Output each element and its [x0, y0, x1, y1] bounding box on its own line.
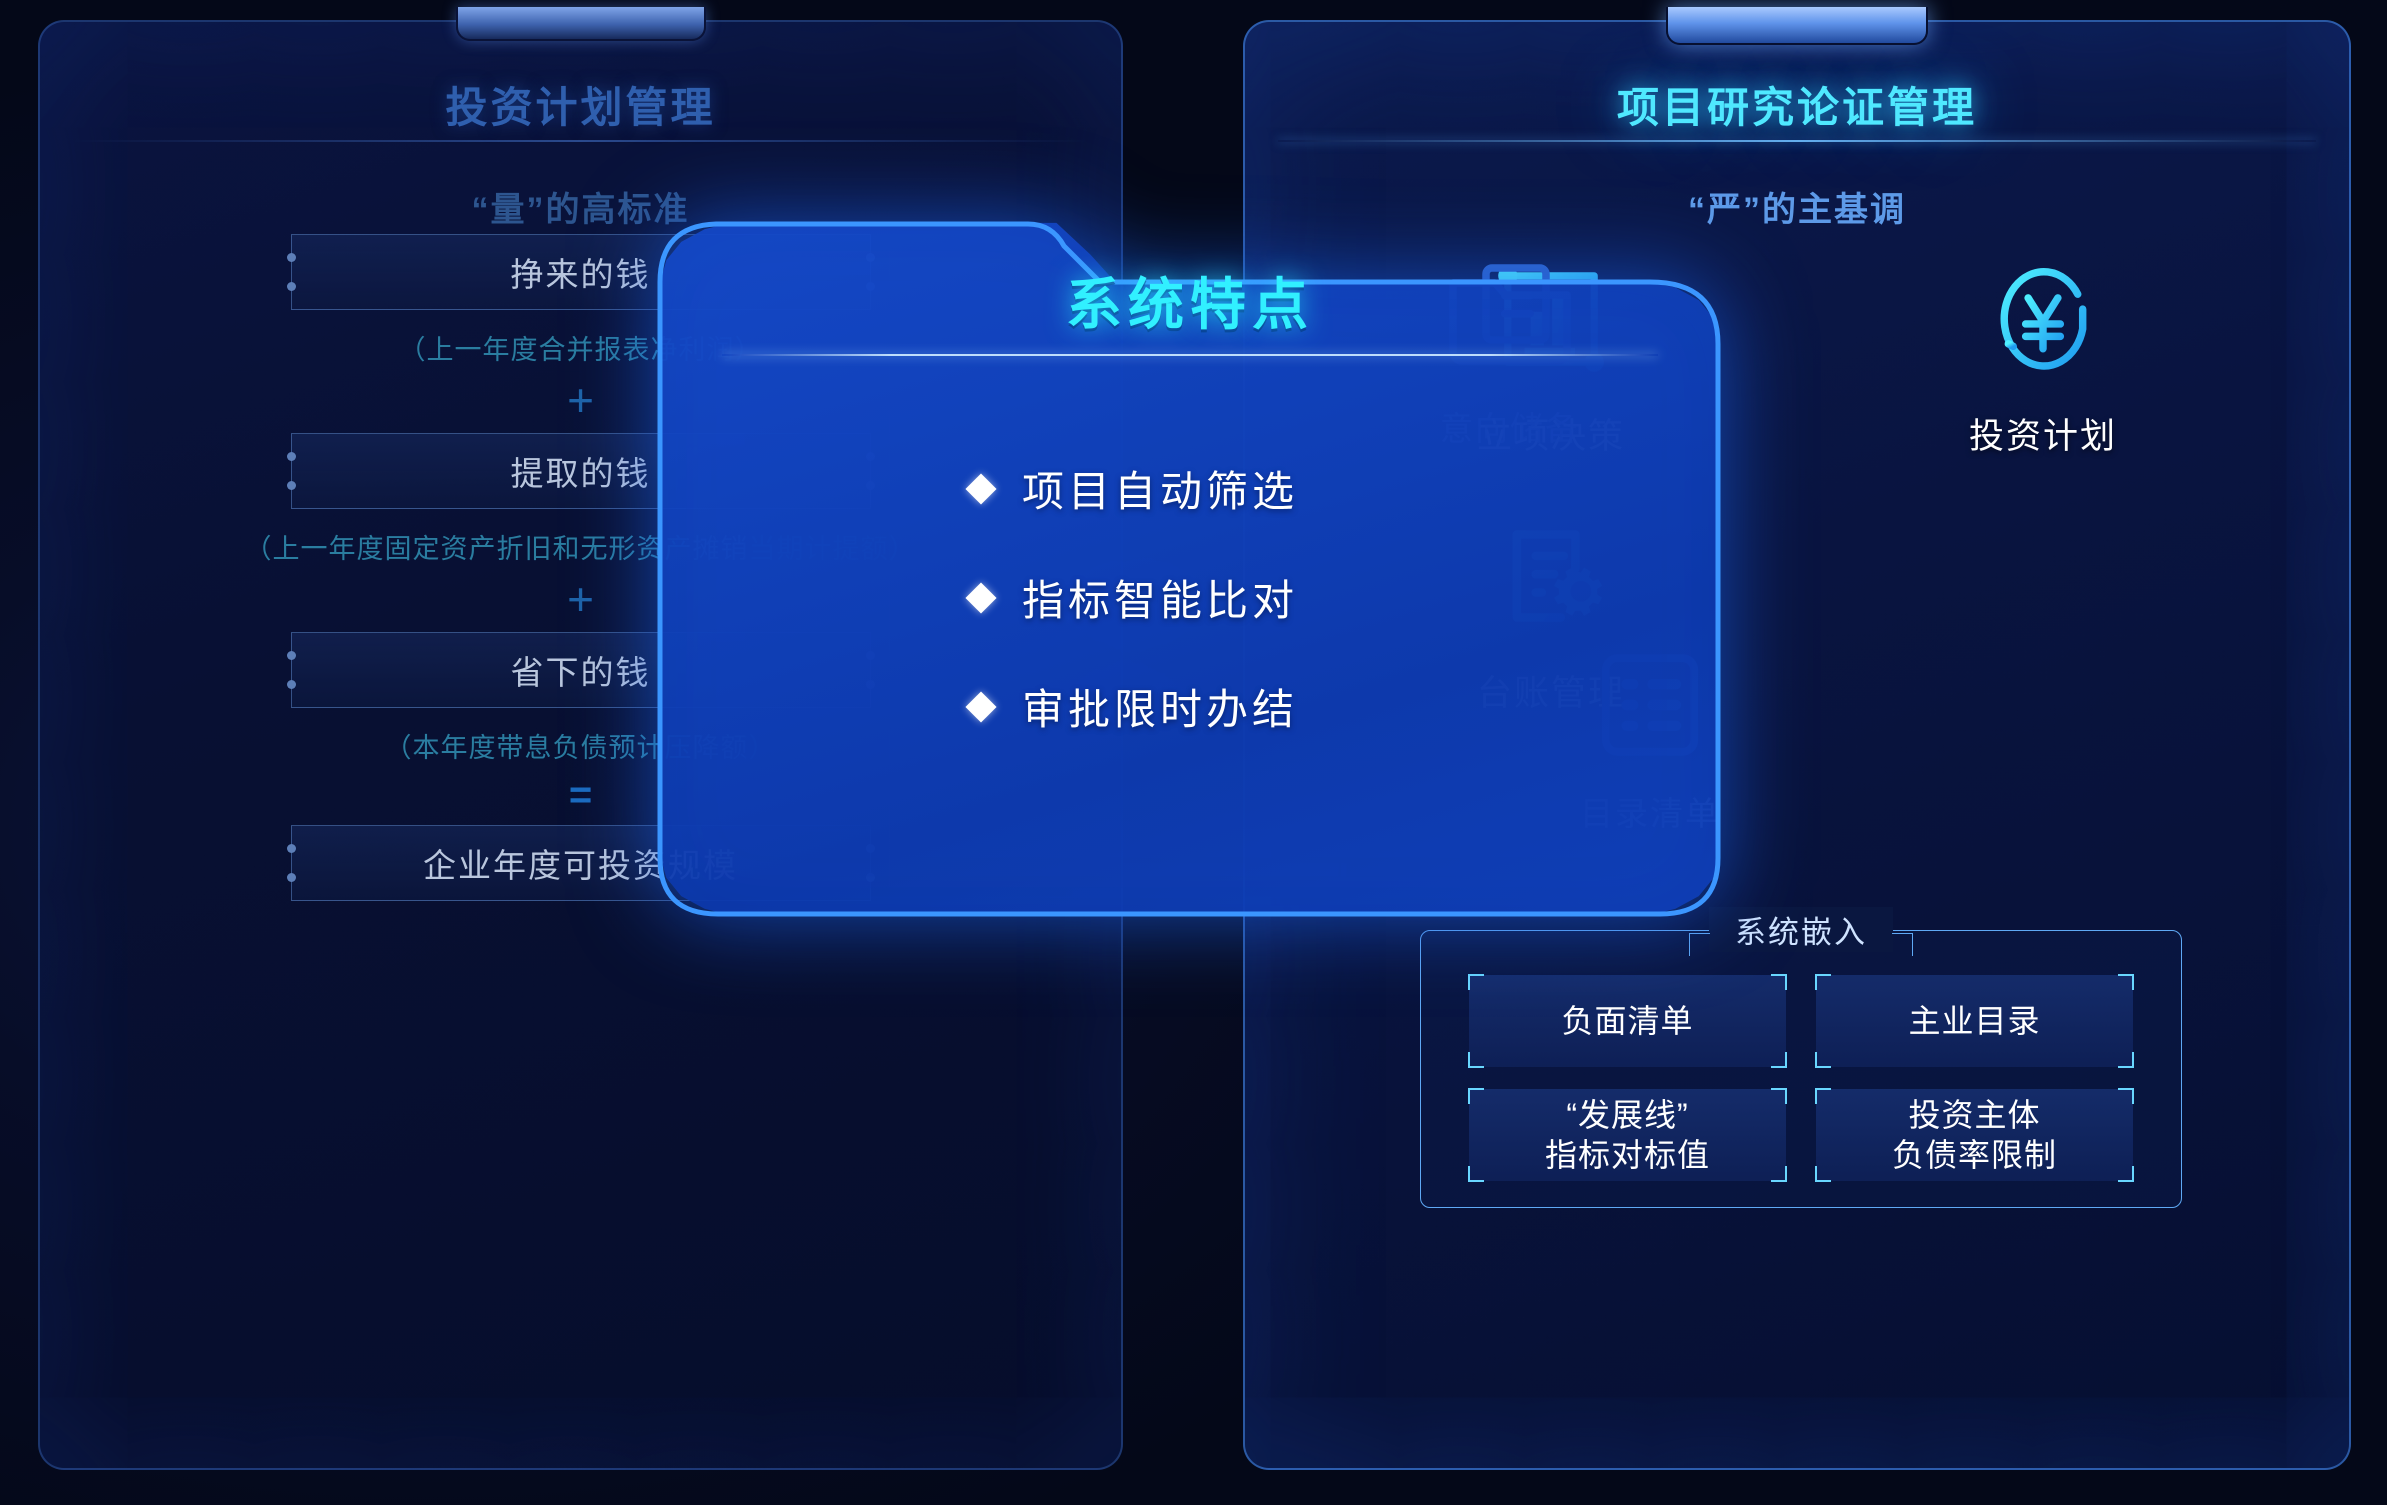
system-embed-grid: 负面清单 主业目录 “发展线” 指标对标值 投资主体 — [1469, 975, 2133, 1181]
embed-cell-line: 指标对标值 — [1545, 1135, 1710, 1175]
embed-cell-line: “发展线” — [1545, 1095, 1710, 1135]
modal-list-item[interactable]: 审批限时办结 — [970, 676, 1490, 737]
formula-box-label: 挣来的钱 — [511, 248, 651, 296]
panel-right-tab-notch — [1666, 7, 1928, 45]
modal-feature-list: 项目自动筛选 指标智能比对 审批限时办结 — [970, 458, 1490, 785]
modal-list-label: 审批限时办结 — [1022, 676, 1298, 737]
embed-cell-line: 投资主体 — [1892, 1095, 2057, 1135]
modal-list-label: 项目自动筛选 — [1022, 458, 1298, 519]
system-features-modal[interactable]: 系统特点 项目自动筛选 指标智能比对 审批限时办结 — [660, 218, 1720, 920]
panel-left-divider — [72, 140, 1088, 142]
system-embed-group: 系统嵌入 负面清单 主业目录 “发展线” 指标对标值 — [1420, 930, 2182, 1208]
embed-cell-main-business-catalog[interactable]: 主业目录 — [1816, 975, 2133, 1067]
modal-title: 系统特点 — [660, 260, 1720, 341]
feature-item-spacer — [1878, 501, 2208, 716]
embed-cell-line: 负债率限制 — [1892, 1135, 2057, 1175]
embed-cell-line: 主业目录 — [1908, 1001, 2040, 1041]
diamond-bullet-icon — [965, 473, 996, 504]
feature-item-investment-plan[interactable]: 投资计划 — [1878, 244, 2208, 459]
modal-list-item[interactable]: 项目自动筛选 — [970, 458, 1490, 519]
modal-title-divider — [722, 354, 1658, 356]
diamond-bullet-icon — [965, 691, 996, 722]
feature-label: 投资计划 — [1878, 408, 2208, 459]
embed-cell-line: 负面清单 — [1561, 1001, 1693, 1041]
panel-right-title: 项目研究论证管理 — [1245, 74, 2349, 135]
embed-cell-negative-list[interactable]: 负面清单 — [1469, 975, 1786, 1067]
formula-box-label: 提取的钱 — [511, 447, 651, 495]
diamond-bullet-icon — [965, 582, 996, 613]
embed-cell-development-line[interactable]: “发展线” 指标对标值 — [1469, 1089, 1786, 1181]
embed-cell-investor-debt-limit[interactable]: 投资主体 负债率限制 — [1816, 1089, 2133, 1181]
system-embed-legend: 系统嵌入 — [1709, 907, 1893, 952]
formula-box-label: 省下的钱 — [511, 646, 651, 694]
yuan-refresh-icon — [1878, 244, 2208, 394]
panel-left-title: 投资计划管理 — [40, 74, 1121, 135]
panel-right-divider — [1278, 140, 2316, 142]
modal-list-label: 指标智能比对 — [1022, 567, 1298, 628]
panel-left-tab-notch — [456, 7, 706, 41]
modal-list-item[interactable]: 指标智能比对 — [970, 567, 1490, 628]
